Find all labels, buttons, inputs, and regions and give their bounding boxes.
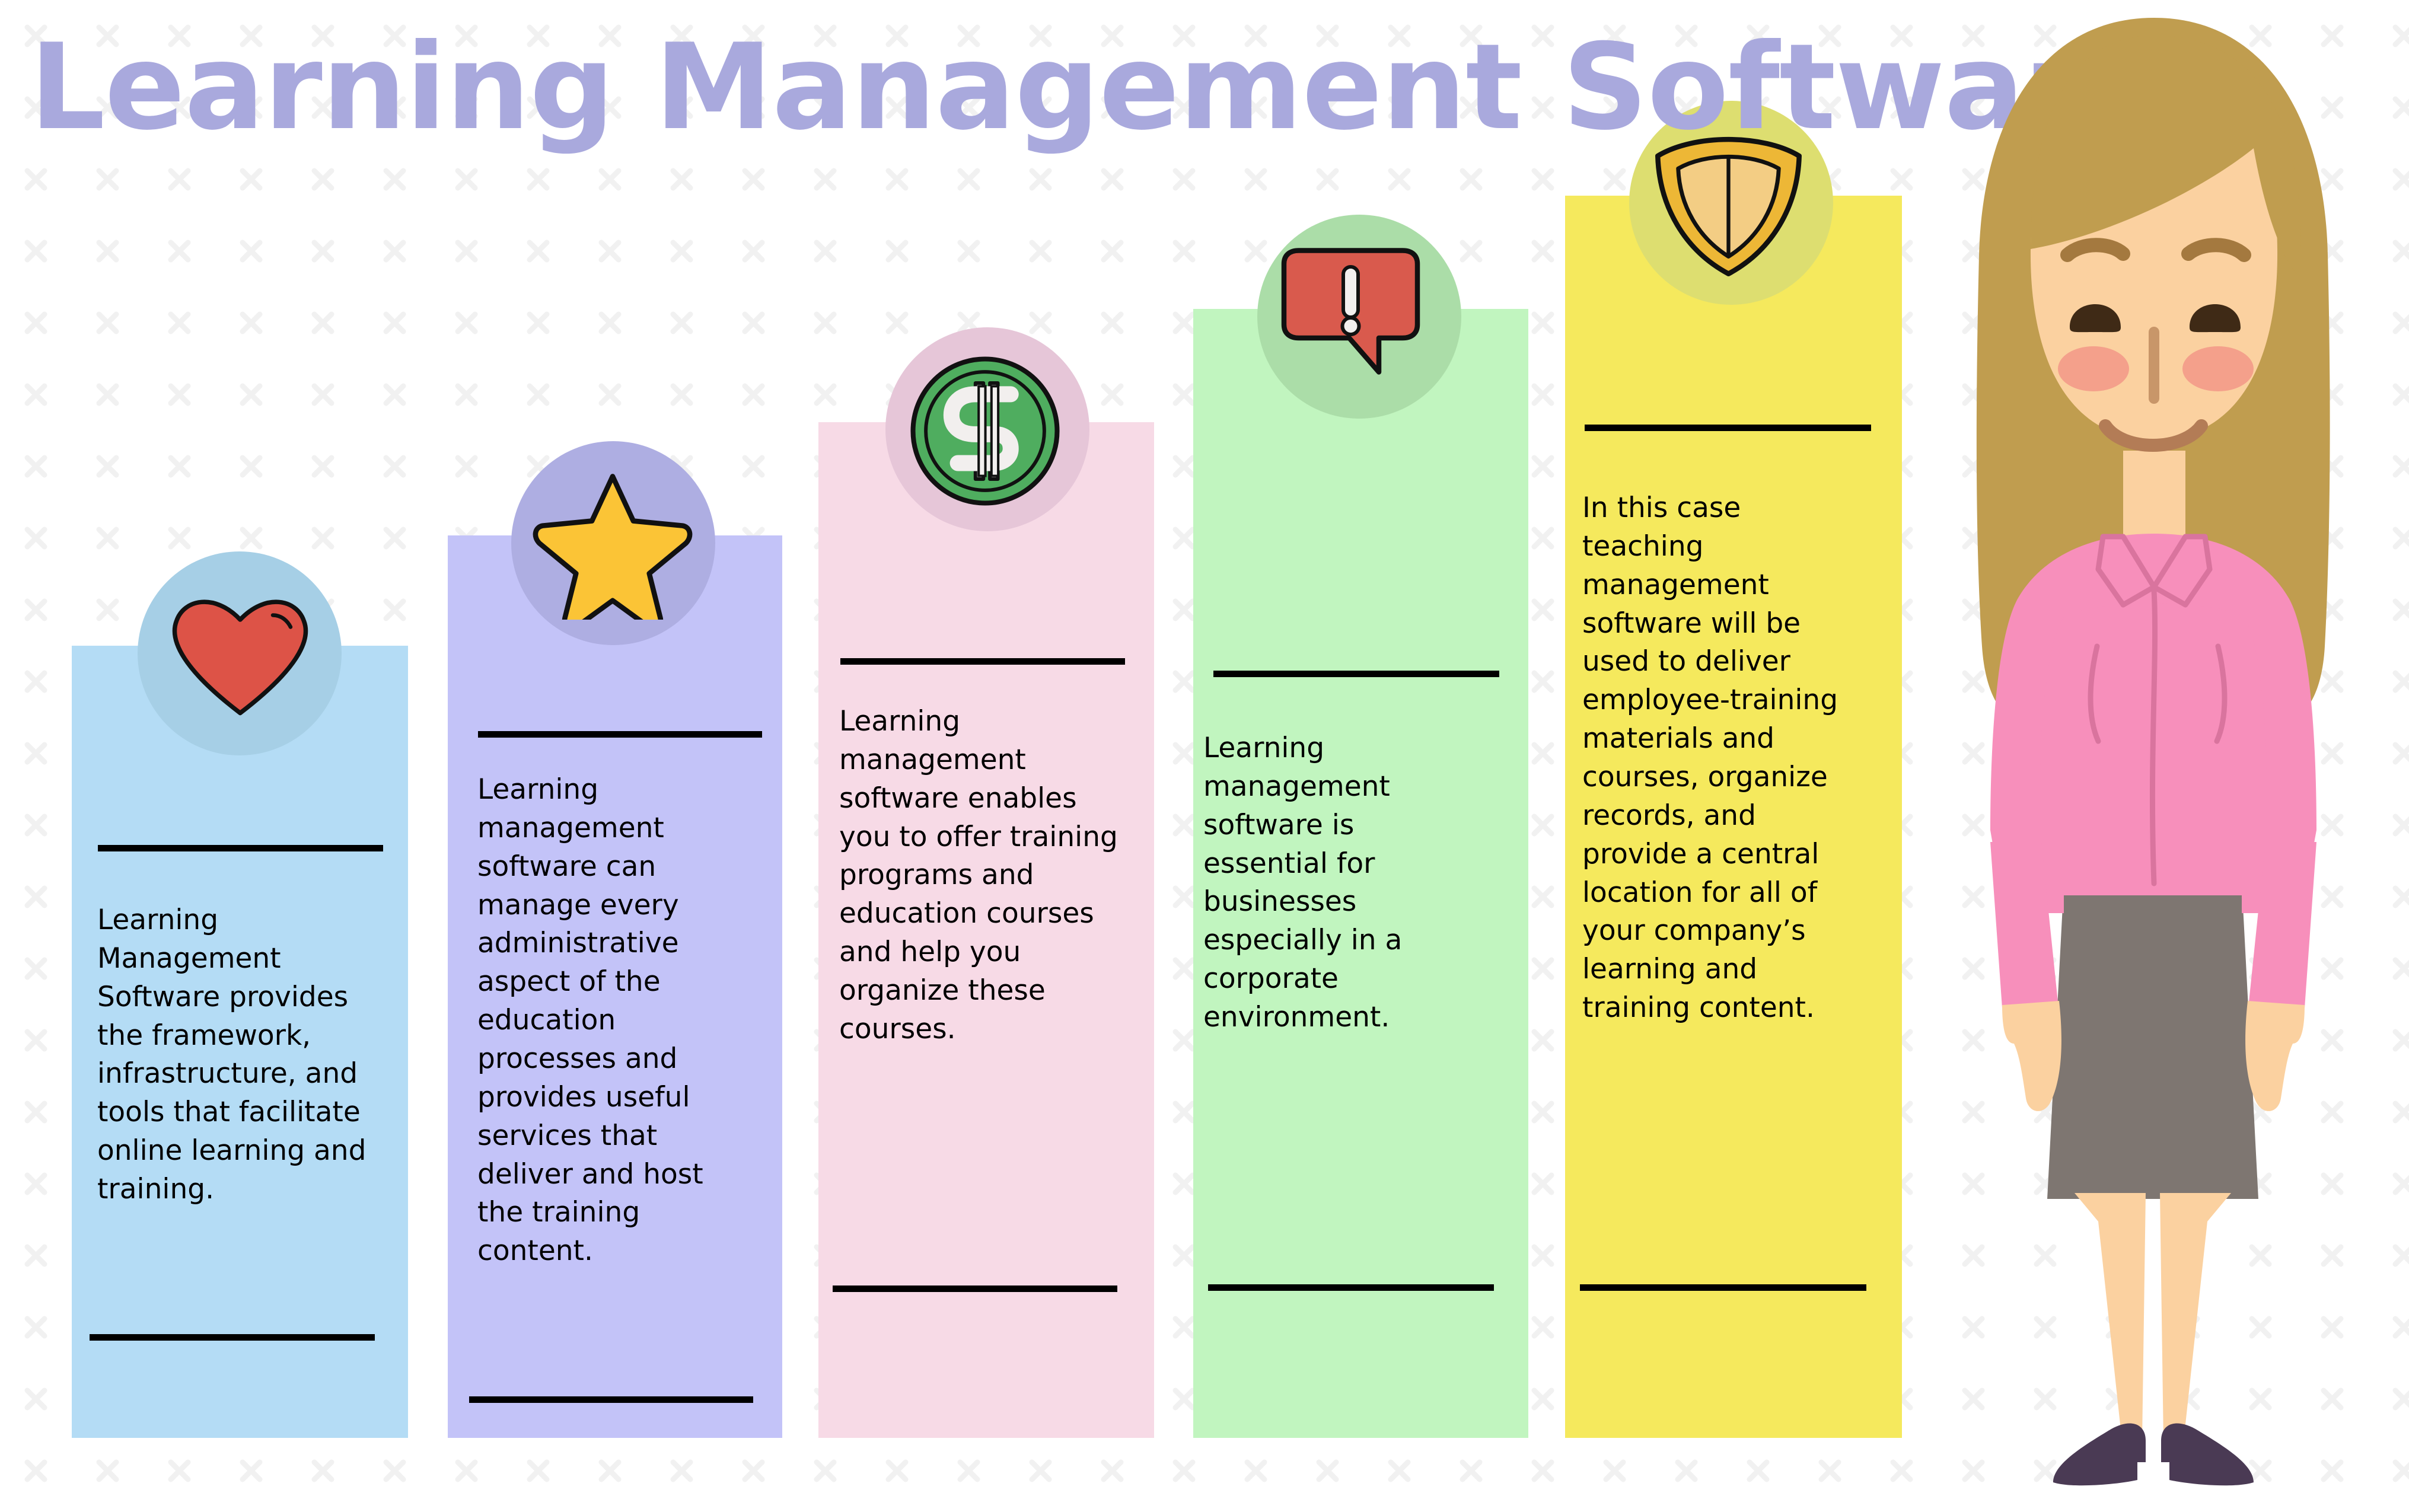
column-2-text: Learning management software can manage … (477, 771, 729, 1271)
column-3-rule-bottom (833, 1285, 1117, 1292)
alert-speech-bubble-icon (1272, 246, 1444, 394)
column-3-rule-top (840, 658, 1125, 665)
blush-right (2182, 346, 2254, 391)
column-4-rule-top (1213, 671, 1499, 677)
hand-right (2245, 1001, 2305, 1111)
column-2-rule-top (478, 731, 762, 738)
column-5-rule-bottom (1580, 1284, 1866, 1291)
column-5-text: In this case teaching management softwar… (1582, 489, 1852, 1028)
leg-left (2075, 1193, 2146, 1451)
column-1-rule-bottom (90, 1334, 375, 1341)
businesswoman-illustration (1886, 0, 2409, 1512)
column-1-text: Learning Management Software provides th… (97, 901, 382, 1209)
shoe-left (2053, 1423, 2146, 1485)
blouse-placket (2152, 590, 2155, 883)
column-4-text: Learning management software is essentia… (1203, 729, 1432, 1037)
infographic-canvas: Learning Management Software Learning Ma… (0, 0, 2409, 1512)
star-icon (533, 468, 693, 620)
leg-right (2160, 1193, 2231, 1451)
shoe-right (2161, 1423, 2254, 1485)
column-4-rule-bottom (1208, 1284, 1494, 1291)
column-5-rule-top (1585, 425, 1871, 431)
skirt (2047, 883, 2258, 1199)
page-title: Learning Management Software (30, 28, 2162, 147)
column-2-rule-bottom (469, 1396, 753, 1403)
column-1-rule-top (98, 845, 383, 851)
blush-left (2058, 346, 2129, 391)
dollar-coin-icon (905, 351, 1065, 511)
heart-icon (166, 587, 314, 720)
hand-left (2002, 1001, 2061, 1111)
column-3-text: Learning management software enables you… (839, 703, 1118, 1049)
